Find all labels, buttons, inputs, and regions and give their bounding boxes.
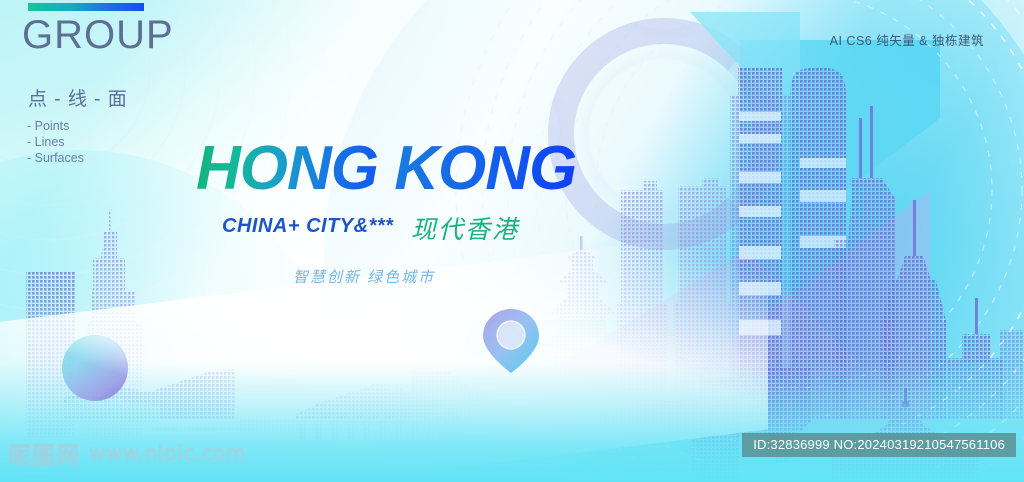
watermark-url: www.nipic.com [89, 441, 246, 465]
concept-line-surfaces: - Surfaces [27, 150, 84, 166]
location-pin-icon [480, 305, 542, 377]
page-title: HONG KONG [196, 133, 576, 204]
concept-lines: - Points - Lines - Surfaces [27, 118, 84, 166]
gradient-sphere-highlight [62, 335, 128, 401]
concept-heading: 点 - 线 - 面 [28, 84, 128, 111]
title-word-kong: KONG [394, 134, 576, 203]
concept-line-lines: - Lines [27, 134, 84, 150]
concept-line-points: - Points [27, 118, 84, 134]
subtitle-cn: 现代香港 [411, 210, 519, 246]
tagline-cn: 智慧创新 绿色城市 [293, 266, 435, 287]
subtitle-en: CHINA+ CITY&*** [222, 215, 393, 238]
id-badge: ID:32836999 NO:20240319210547561106 [742, 433, 1016, 457]
brand-gradient-bar [28, 3, 144, 11]
title-word-hong: HONG [196, 134, 378, 203]
watermark: 昵图网 www.nipic.com [8, 436, 246, 470]
poster-canvas: GROUP 点 - 线 - 面 - Points - Lines - Surfa… [0, 0, 1024, 482]
header-note: AI CS6 纯矢量 & 独栋建筑 [830, 30, 984, 49]
group-logo: GROUP [22, 13, 174, 58]
watermark-cn: 昵图网 [8, 436, 80, 470]
